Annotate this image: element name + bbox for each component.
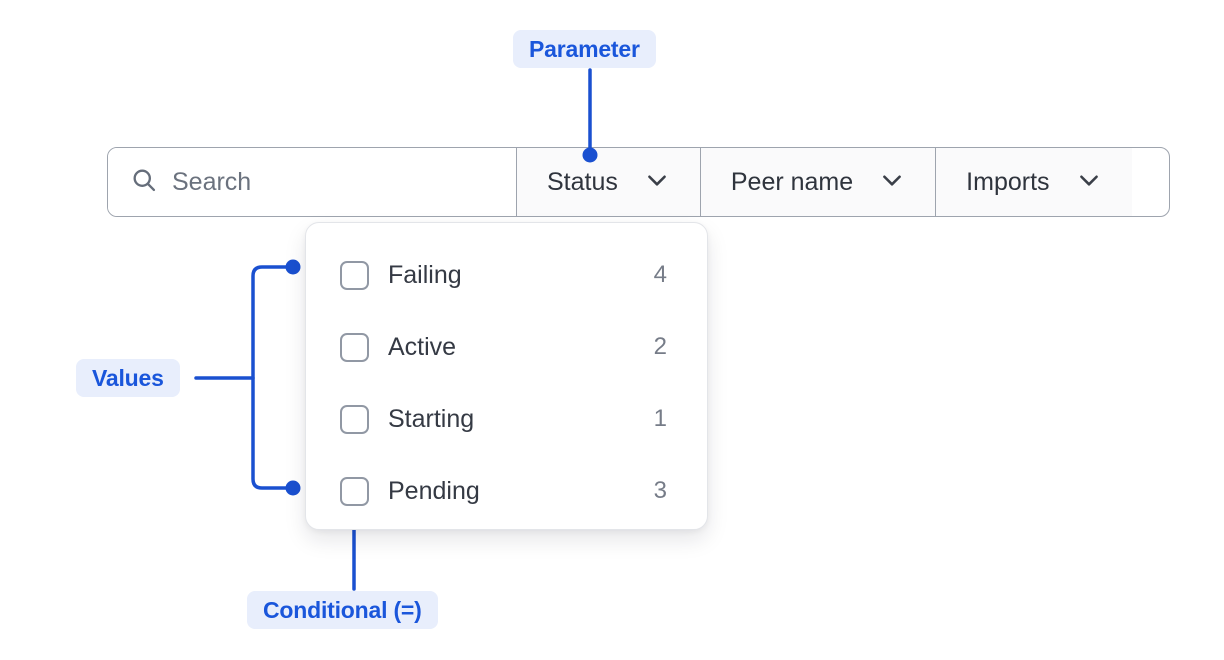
annotation-badge-conditional: Conditional (=) <box>247 591 438 629</box>
filter-chip-status[interactable]: Status <box>517 148 701 216</box>
dropdown-option-failing-label: Failing <box>388 261 654 290</box>
dropdown-option-starting[interactable]: Starting 1 <box>306 383 707 455</box>
checkbox-pending[interactable] <box>340 477 369 506</box>
dropdown-option-starting-label: Starting <box>388 405 654 434</box>
checkbox-active[interactable] <box>340 333 369 362</box>
filter-chip-peer-name[interactable]: Peer name <box>701 148 936 216</box>
filter-bar: Status Peer name Imports <box>107 147 1170 217</box>
dropdown-option-starting-count: 1 <box>654 405 667 433</box>
values-connector-dot-bottom <box>286 481 301 496</box>
values-bracket <box>253 267 286 488</box>
annotation-badge-parameter: Parameter <box>513 30 656 68</box>
dropdown-option-failing[interactable]: Failing 4 <box>306 239 707 311</box>
search-icon <box>130 166 158 199</box>
dropdown-option-active-label: Active <box>388 333 654 362</box>
chevron-down-icon <box>879 167 905 198</box>
search-cell[interactable] <box>108 148 517 216</box>
checkbox-failing[interactable] <box>340 261 369 290</box>
dropdown-option-active[interactable]: Active 2 <box>306 311 707 383</box>
chevron-down-icon <box>1076 167 1102 198</box>
filter-chip-peer-name-label: Peer name <box>731 168 853 197</box>
dropdown-option-pending-count: 3 <box>654 477 667 505</box>
dropdown-option-active-count: 2 <box>654 333 667 361</box>
values-connector-dot-top <box>286 260 301 275</box>
filter-chip-status-label: Status <box>547 168 618 197</box>
search-input[interactable] <box>172 148 494 216</box>
dropdown-option-pending-label: Pending <box>388 477 654 506</box>
status-filter-dropdown: Failing 4 Active 2 Starting 1 Pending 3 <box>305 222 708 530</box>
chevron-down-icon <box>644 167 670 198</box>
annotation-badge-values: Values <box>76 359 180 397</box>
dropdown-option-failing-count: 4 <box>654 261 667 289</box>
dropdown-option-pending[interactable]: Pending 3 <box>306 455 707 527</box>
checkbox-starting[interactable] <box>340 405 369 434</box>
filter-chip-imports[interactable]: Imports <box>936 148 1131 216</box>
annotation-diagram: Parameter Values Conditional (=) Status … <box>0 0 1224 660</box>
filter-chip-imports-label: Imports <box>966 168 1049 197</box>
